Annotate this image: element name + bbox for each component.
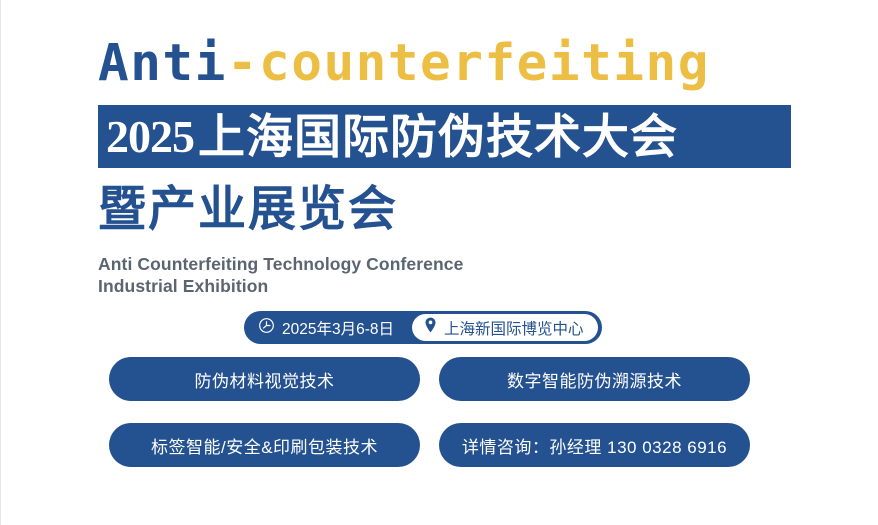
- topic-button-label-printing-packaging[interactable]: 标签智能/安全&印刷包装技术: [109, 423, 420, 467]
- title-band: 2025 上海国际防伪技术大会: [98, 105, 791, 168]
- title-chinese-main: 上海国际防伪技术大会: [198, 113, 678, 160]
- topic-button-digital-traceability[interactable]: 数字智能防伪溯源技术: [439, 357, 750, 401]
- subtitle-english: Anti Counterfeiting Technology Conferenc…: [98, 253, 463, 297]
- location-pin-icon: [424, 317, 437, 338]
- subtitle-english-line1: Anti Counterfeiting Technology Conferenc…: [98, 253, 463, 275]
- date-venue-pill: 2025年3月6-8日 上海新国际博览中心: [244, 311, 602, 344]
- venue-chip: 上海新国际博览中心: [412, 314, 598, 341]
- headline-segment-counterfeiting: -counterfeiting: [227, 34, 710, 93]
- event-venue: 上海新国际博览中心: [444, 317, 584, 339]
- event-date: 2025年3月6-8日: [282, 317, 394, 339]
- headline-segment-anti: Anti: [98, 34, 227, 93]
- topic-button-anti-counterfeiting-materials[interactable]: 防伪材料视觉技术: [109, 357, 420, 401]
- subtitle-english-line2: Industrial Exhibition: [98, 275, 463, 297]
- contact-button[interactable]: 详情咨询：孙经理 130 0328 6916: [439, 423, 750, 467]
- poster-canvas: Anti-counterfeiting 2025 上海国际防伪技术大会 暨产业展…: [0, 0, 878, 525]
- headline-english: Anti-counterfeiting: [98, 38, 710, 89]
- title-year: 2025: [106, 114, 194, 160]
- clock-icon: [258, 317, 275, 339]
- title-chinese-secondary: 暨产业展览会: [98, 186, 398, 234]
